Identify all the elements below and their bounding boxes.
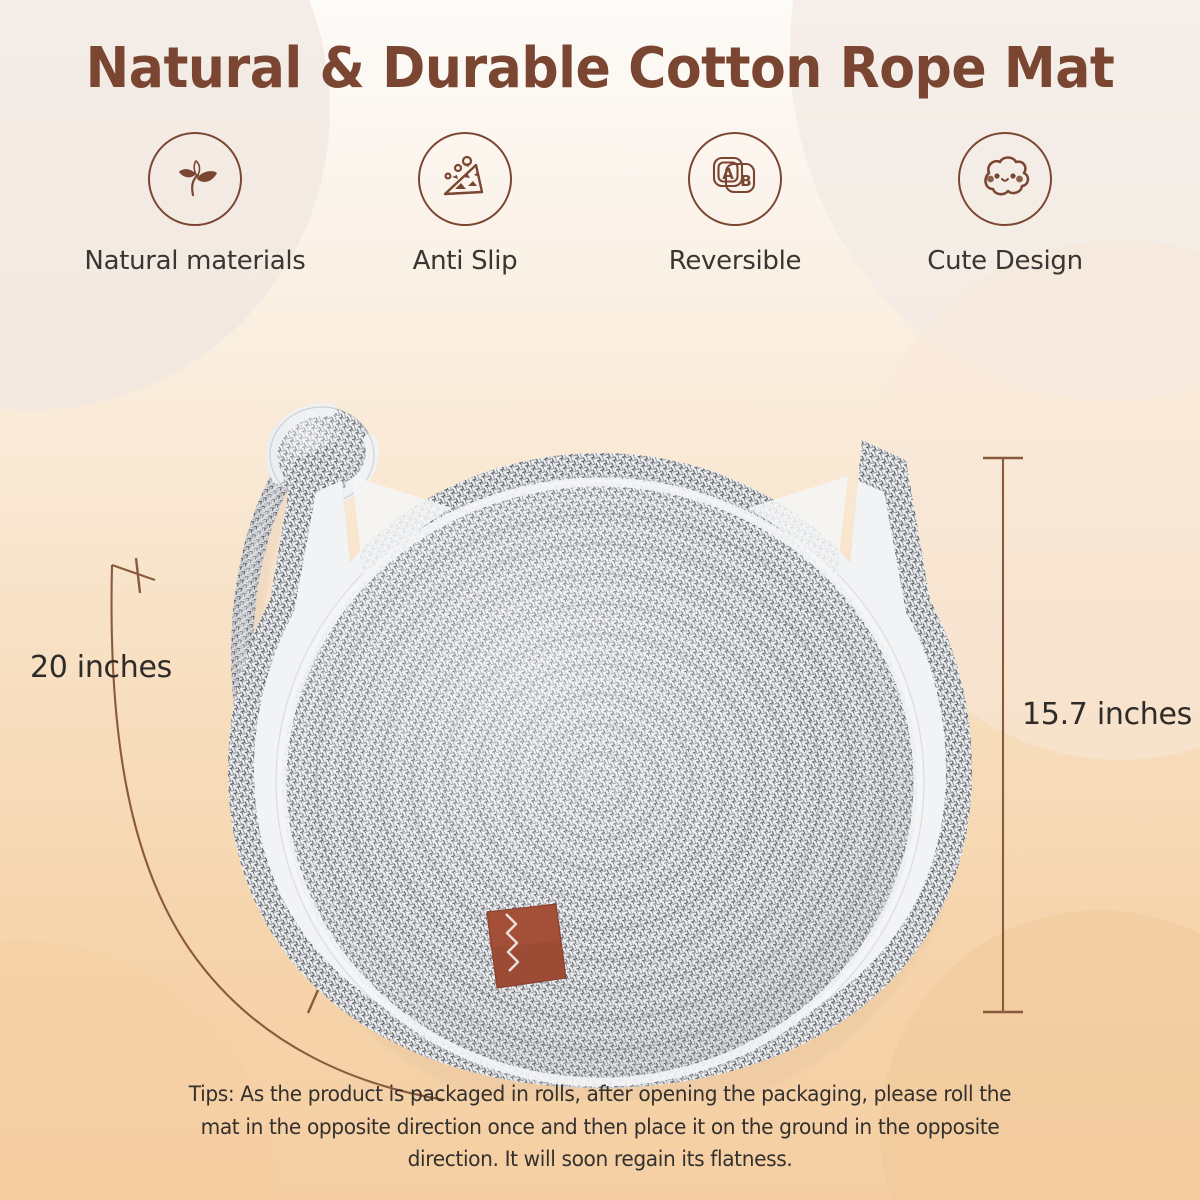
leather-tag bbox=[487, 904, 566, 988]
length-dimension-label: 20 inches bbox=[30, 650, 172, 685]
two-cards-ab-icon: A B bbox=[688, 132, 782, 226]
cat-shaped-mat bbox=[180, 410, 1020, 1100]
feature-natural-materials: Natural materials bbox=[60, 132, 330, 276]
leaf-plant-icon bbox=[148, 132, 242, 226]
feature-label: Natural materials bbox=[84, 246, 305, 276]
width-dimension-line bbox=[983, 458, 1023, 1012]
feature-label: Reversible bbox=[669, 246, 801, 276]
slope-wedge-icon bbox=[418, 132, 512, 226]
tips-text: Tips: As the product is packaged in roll… bbox=[187, 1078, 1013, 1176]
feature-label: Cute Design bbox=[927, 246, 1083, 276]
width-dimension-label: 15.7 inches bbox=[1022, 697, 1192, 732]
infographic-page: Natural & Durable Cotton Rope Mat Natura… bbox=[0, 0, 1200, 1200]
feature-reversible: A B Reversible bbox=[600, 132, 870, 276]
feature-anti-slip: Anti Slip bbox=[330, 132, 600, 276]
feature-label: Anti Slip bbox=[413, 246, 518, 276]
reversible-back-letter: B bbox=[740, 172, 751, 190]
page-title: Natural & Durable Cotton Rope Mat bbox=[42, 36, 1158, 101]
reversible-front-letter: A bbox=[722, 165, 734, 183]
kawaii-cloud-face-icon bbox=[958, 132, 1052, 226]
feature-cute-design: Cute Design bbox=[870, 132, 1140, 276]
feature-row: Natural materials bbox=[60, 132, 1140, 276]
product-illustration bbox=[0, 300, 1200, 1100]
